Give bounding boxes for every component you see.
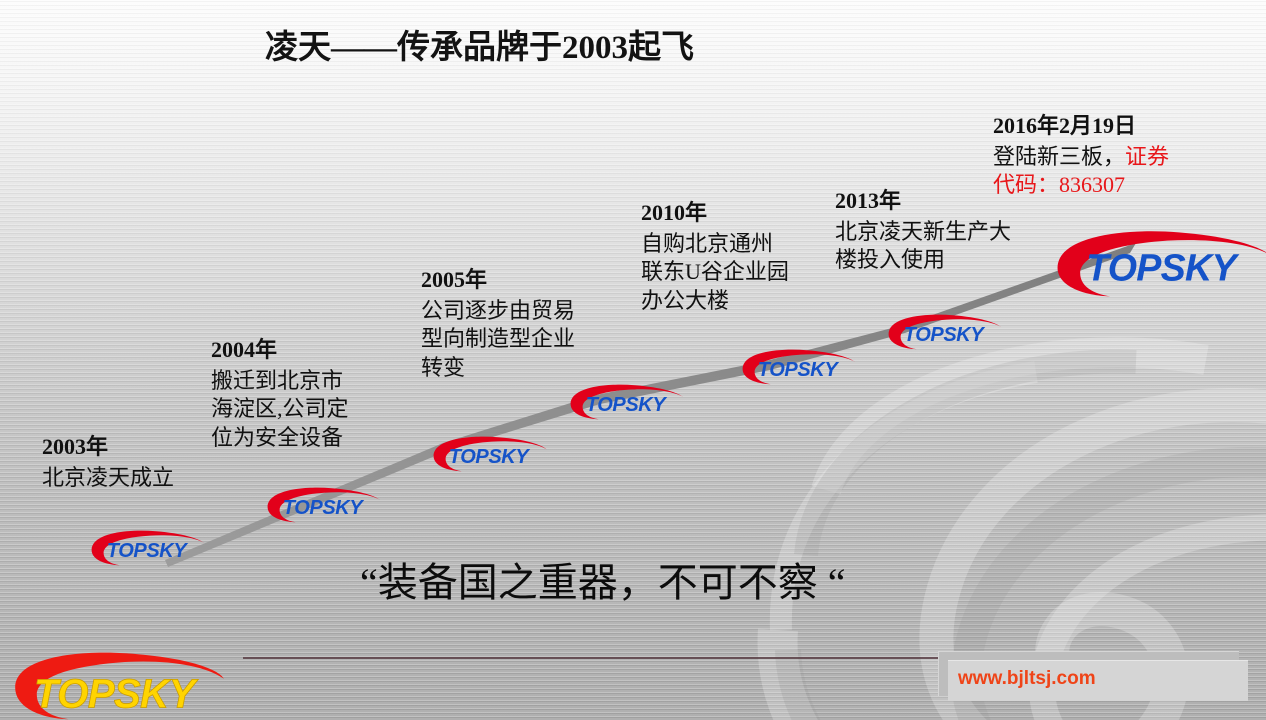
svg-text:TOPSKY: TOPSKY (449, 446, 531, 468)
milestone-2005: 2005年 公司逐步由贸易 型向制造型企业 转变 (421, 266, 575, 382)
topsky-logo-2010: TOPSKY (737, 347, 857, 387)
milestone-year: 2005年 (421, 266, 575, 295)
topsky-logo-midpoint: TOPSKY (565, 382, 685, 422)
milestone-2010: 2010年 自购北京通州 联东U谷企业园 办公大楼 (641, 199, 789, 315)
milestone-line-listing: 登陆新三板，证券 (993, 143, 1169, 172)
topsky-logo-2013: TOPSKY (883, 312, 1003, 352)
footer-topsky-logo: TOPSKY (8, 650, 224, 718)
svg-text:TOPSKY: TOPSKY (283, 497, 365, 519)
milestone-description: 北京凌天成立 (42, 464, 174, 493)
milestone-description: 登陆新三板，证券 代码：836307 (993, 143, 1169, 200)
milestone-year: 2010年 (641, 199, 789, 228)
timeline-connector-line (0, 0, 1266, 720)
milestone-2004: 2004年 搬迁到北京市 海淀区,公司定 位为安全设备 (211, 336, 349, 452)
svg-text:TOPSKY: TOPSKY (1086, 247, 1239, 289)
milestone-year: 2003年 (42, 433, 174, 462)
milestone-2013: 2013年 北京凌天新生产大 楼投入使用 (835, 187, 1011, 275)
slide-canvas: 凌天——传承品牌于2003起飞 2003年 北京凌天成立 TOPSKY 2004… (0, 0, 1266, 720)
topsky-logo-hero: TOPSKY (1047, 226, 1266, 302)
milestone-2003: 2003年 北京凌天成立 (42, 433, 174, 492)
svg-text:TOPSKY: TOPSKY (586, 394, 668, 416)
milestone-2016: 2016年2月19日 登陆新三板，证券 代码：836307 (993, 112, 1169, 200)
milestone-year: 2016年2月19日 (993, 112, 1169, 141)
milestone-description: 搬迁到北京市 海淀区,公司定 位为安全设备 (211, 367, 349, 453)
milestone-year: 2004年 (211, 336, 349, 365)
page-title: 凌天——传承品牌于2003起飞 (265, 20, 694, 68)
milestone-description: 公司逐步由贸易 型向制造型企业 转变 (421, 297, 575, 383)
topsky-logo-2005: TOPSKY (428, 434, 548, 474)
svg-text:TOPSKY: TOPSKY (904, 324, 986, 346)
milestone-year: 2013年 (835, 187, 1011, 216)
topsky-logo-2004: TOPSKY (262, 485, 382, 525)
svg-text:TOPSKY: TOPSKY (107, 540, 189, 562)
slogan-quote: “装备国之重器，不可不察 “ (360, 550, 846, 608)
milestone-line-red: 证券 (1125, 144, 1169, 169)
milestone-description: 自购北京通州 联东U谷企业园 办公大楼 (641, 230, 789, 316)
milestone-description: 北京凌天新生产大 楼投入使用 (835, 218, 1011, 275)
milestone-line-black: 登陆新三板， (993, 144, 1125, 169)
milestone-stock-code: 代码：836307 (993, 171, 1169, 200)
website-url[interactable]: www.bjltsj.com (958, 668, 1096, 690)
svg-text:TOPSKY: TOPSKY (34, 671, 199, 717)
topsky-logo-2003: TOPSKY (86, 528, 206, 568)
svg-text:TOPSKY: TOPSKY (758, 359, 840, 381)
